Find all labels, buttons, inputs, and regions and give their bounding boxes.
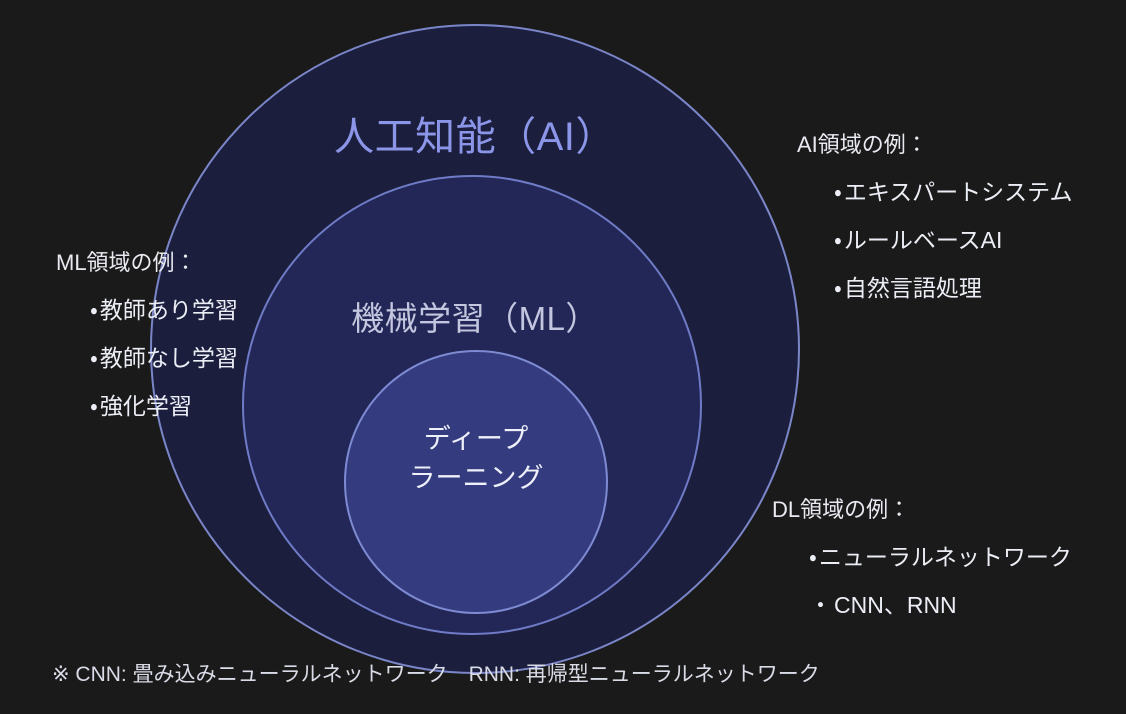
annotation-machine-learning-examples: ML領域の例： ・教師あり学習 ・教師なし学習 ・強化学習 <box>56 245 238 435</box>
bullet-icon: ・ <box>90 345 98 371</box>
annotation-ai-list: ・エキスパートシステム ・ルールベースAI ・自然言語処理 <box>797 173 1072 303</box>
annotation-ai-heading: AI領域の例： <box>797 127 1072 159</box>
annotation-ml-list: ・教師あり学習 ・教師なし学習 ・強化学習 <box>56 291 238 421</box>
bullet-icon: ・ <box>834 227 842 253</box>
annotation-dl-item-text: ニューラルネットワーク <box>819 544 1072 570</box>
bullet-icon: ・ <box>90 297 98 323</box>
bullet-icon: ・ <box>809 544 817 570</box>
annotation-ml-heading: ML領域の例： <box>56 245 238 277</box>
list-item: ・教師なし学習 <box>90 339 238 373</box>
list-item: ・ニューラルネットワーク <box>809 538 1072 572</box>
annotation-deep-learning-examples: DL領域の例： ・ニューラルネットワーク ・CNN、RNN <box>772 492 1072 634</box>
annotation-ml-item-text: 教師なし学習 <box>100 345 238 371</box>
annotation-ai-item-text: 自然言語処理 <box>844 275 982 301</box>
list-item: ・強化学習 <box>90 387 238 421</box>
label-deep-learning-line2: ラーニング <box>344 459 608 498</box>
label-deep-learning-line1: ディープ <box>344 420 608 459</box>
bullet-icon: ・ <box>834 275 842 301</box>
bullet-icon: ・ <box>90 393 98 419</box>
bullet-icon: ・ <box>834 179 842 205</box>
list-item: ・教師あり学習 <box>90 291 238 325</box>
annotation-ml-item-text: 教師あり学習 <box>100 297 238 323</box>
footnote-abbreviations: ※ CNN: 畳み込みニューラルネットワーク RNN: 再帰型ニューラルネットワ… <box>52 658 820 688</box>
annotation-dl-list: ・ニューラルネットワーク ・CNN、RNN <box>772 538 1072 620</box>
annotation-dl-heading: DL領域の例： <box>772 492 1072 524</box>
diagram-canvas: 人工知能（AI） 機械学習（ML） ディープ ラーニング ML領域の例： ・教師… <box>0 0 1126 714</box>
label-deep-learning: ディープ ラーニング <box>344 420 608 498</box>
bullet-icon: ・ <box>809 592 832 618</box>
annotation-ai-item-text: エキスパートシステム <box>844 179 1073 205</box>
annotation-ai-examples: AI領域の例： ・エキスパートシステム ・ルールベースAI ・自然言語処理 <box>797 127 1072 317</box>
list-item: ・ルールベースAI <box>834 221 1072 255</box>
list-item: ・CNN、RNN <box>809 586 1072 620</box>
list-item: ・エキスパートシステム <box>834 173 1072 207</box>
annotation-dl-item-text: CNN、RNN <box>834 592 957 618</box>
list-item: ・自然言語処理 <box>834 269 1072 303</box>
annotation-ml-item-text: 強化学習 <box>100 393 192 419</box>
annotation-ai-item-text: ルールベースAI <box>844 227 1003 253</box>
